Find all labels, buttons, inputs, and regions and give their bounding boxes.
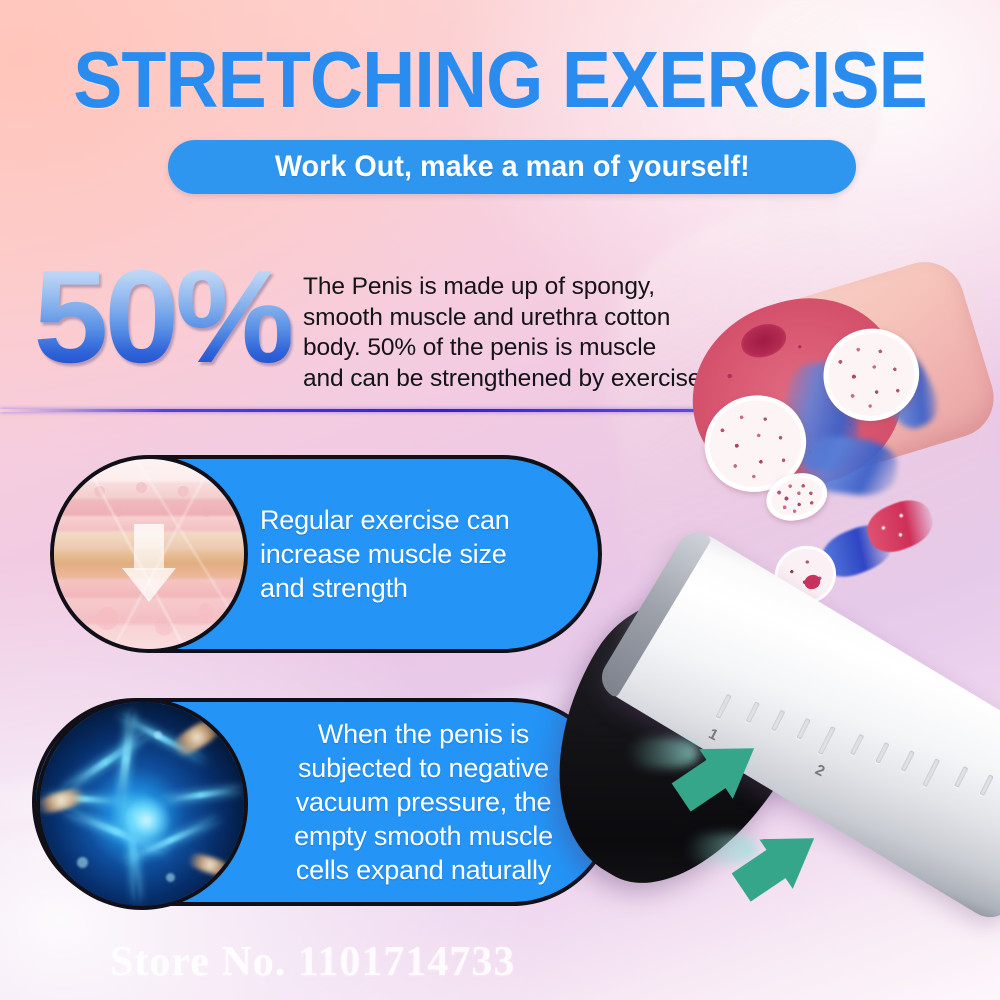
- cell-speck: [154, 731, 162, 739]
- cell-nucleus: [122, 796, 171, 845]
- scale-digit: 2: [812, 761, 827, 780]
- skin-layers-artwork: [54, 459, 244, 649]
- page-title: STRETCHING EXERCISE: [40, 36, 960, 124]
- scale-tick: [818, 726, 836, 755]
- downward-arrow-icon: [122, 524, 176, 602]
- feature-2-line-4: empty smooth muscle: [251, 819, 596, 853]
- subtitle-badge: Work Out, make a man of yourself!: [168, 140, 856, 194]
- arrow-motion-glow: [686, 834, 756, 864]
- scale-tick: [715, 694, 731, 719]
- feature-1-line-3: and strength: [260, 571, 590, 605]
- muscle-cell-illustration: [36, 698, 248, 910]
- feature-1-line-1: Regular exercise can: [260, 503, 590, 537]
- scale-tick: [922, 758, 940, 787]
- arrow-shaft: [134, 524, 164, 570]
- subtitle-text: Work Out, make a man of yourself!: [275, 150, 750, 184]
- muscle-cell-artwork: [40, 702, 244, 906]
- feature-2-line-5: cells expand naturally: [251, 853, 596, 887]
- scale-tick: [850, 734, 864, 756]
- cell-filament: [116, 710, 136, 808]
- feature-card-skin-layers[interactable]: Regular exercise can increase muscle siz…: [56, 455, 602, 653]
- cell-filament: [59, 730, 151, 795]
- scale-tick: [979, 774, 993, 796]
- feature-1-line-2: increase muscle size: [260, 537, 590, 571]
- cell-speck: [77, 857, 88, 868]
- arrow-motion-glow: [628, 738, 698, 768]
- feature-card-text: When the penis is subjected to negative …: [251, 717, 596, 887]
- scale-tick: [746, 701, 760, 723]
- scale-tick: [875, 742, 889, 764]
- cell-speck: [166, 873, 175, 882]
- feature-2-line-3: vacuum pressure, the: [251, 785, 596, 819]
- poster-canvas: STRETCHING EXERCISE Work Out, make a man…: [0, 0, 1000, 1000]
- store-watermark: Store No. 1101714733: [110, 938, 515, 986]
- scale-tick: [796, 718, 810, 740]
- feature-2-line-1: When the penis is: [251, 717, 596, 751]
- scale-tick: [771, 710, 785, 732]
- feature-card-muscle-cells[interactable]: When the penis is subjected to negative …: [32, 698, 616, 906]
- cell-light-flare: [179, 848, 241, 882]
- scale-tick: [901, 750, 915, 772]
- stat-percentage: 50%: [33, 258, 290, 376]
- vacuum-pump-device: 2 1: [598, 520, 1000, 1000]
- cell-filament: [158, 786, 244, 804]
- feature-card-text: Regular exercise can increase muscle siz…: [260, 503, 590, 605]
- scale-tick: [954, 766, 968, 788]
- arrow-head: [122, 568, 176, 602]
- feature-2-line-2: subjected to negative: [251, 751, 596, 785]
- skin-layers-illustration: [50, 455, 248, 653]
- section-divider: [0, 409, 744, 412]
